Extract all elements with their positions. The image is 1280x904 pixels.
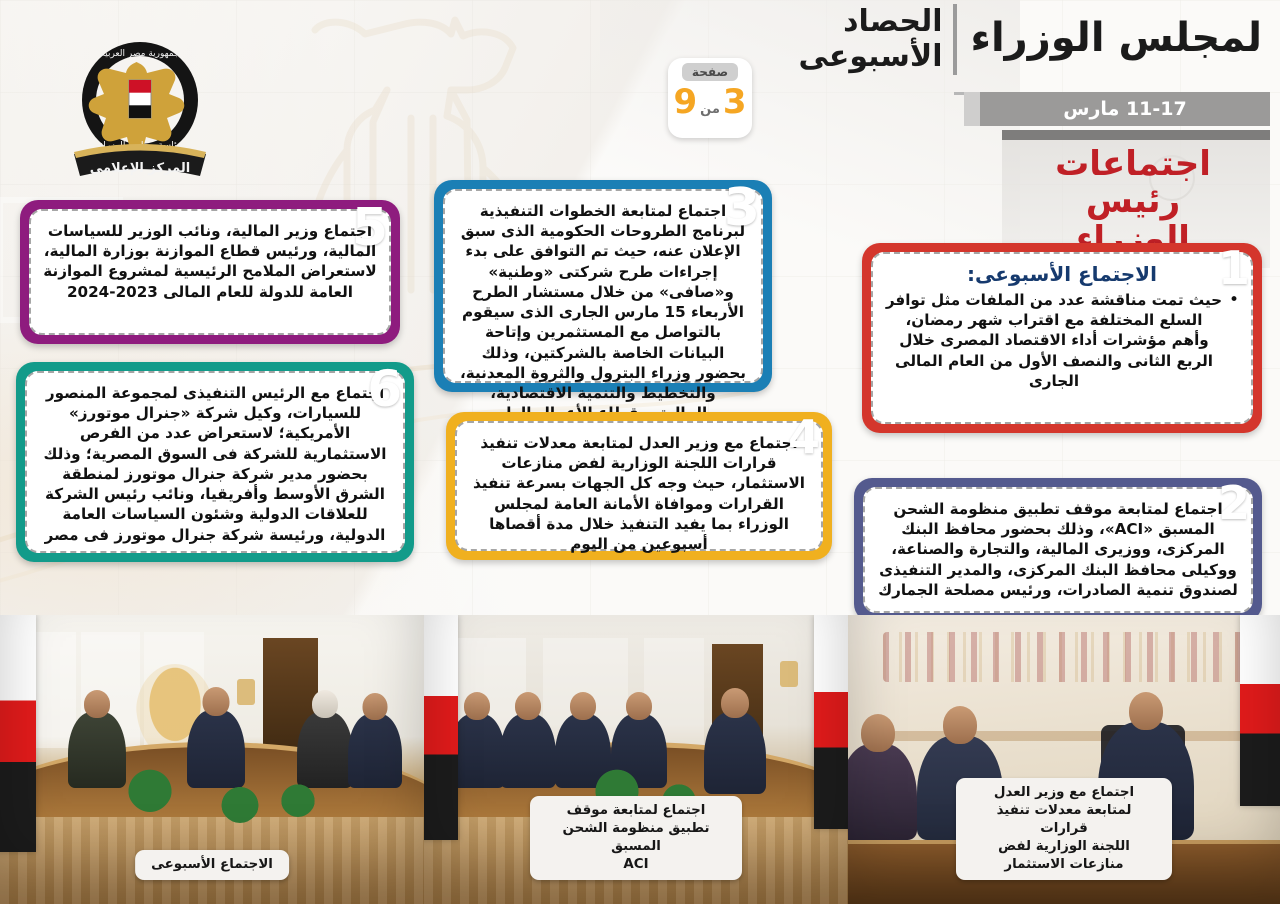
svg-text:المركز الإعلامي: المركز الإعلامي [90, 161, 190, 176]
card-1-number: 1 [1218, 245, 1250, 291]
page-subtitle: الحصاد الأسبوعى [798, 4, 956, 75]
photo-2-caption: اجتماع لمتابعة موقف تطبيق منظومة الشحن ا… [530, 796, 742, 880]
page-badge-current: 3 [723, 82, 747, 122]
card-2-number: 2 [1218, 480, 1250, 526]
photo-3-caption: الاجتماع الأسبوعى [135, 850, 289, 880]
card-6-inner: اجتماع مع الرئيس التنفيذى لمجموعة المنصو… [25, 371, 405, 553]
page-subtitle-line1: الحصاد [798, 4, 942, 39]
photo-1-caption: اجتماع مع وزير العدل لمتابعة معدلات تنفي… [956, 778, 1172, 880]
card-4-text: اجتماع مع وزير العدل لمتابعة معدلات تنفي… [469, 433, 809, 554]
infographic-page: جمهورية مصر العربية رئاسة مجلس الوزراء ا… [0, 0, 1280, 904]
card-3-number: 3 [724, 182, 760, 234]
card-1-heading: الاجتماع الأسبوعى: [885, 262, 1239, 286]
cabinet-media-center-logo: جمهورية مصر العربية رئاسة مجلس الوزراء ا… [58, 34, 222, 186]
page-badge-of: من [700, 102, 720, 117]
card-5-inner: اجتماع وزير المالية، ونائب الوزير للسياس… [29, 209, 391, 335]
card-1-inner: الاجتماع الأسبوعى: • حيث تمت مناقشة عدد … [871, 252, 1253, 424]
section-title-tab [1002, 130, 1270, 140]
card-4-inner: اجتماع مع وزير العدل لمتابعة معدلات تنفي… [455, 421, 823, 551]
card-1-text: حيث تمت مناقشة عدد من الملفات مثل توافر … [885, 290, 1223, 391]
card-6-number: 6 [367, 364, 402, 414]
card-6-text: اجتماع مع الرئيس التنفيذى لمجموعة المنصو… [39, 383, 391, 545]
card-1-bullet-row: • حيث تمت مناقشة عدد من الملفات مثل تواف… [885, 290, 1239, 391]
card-5: 5 اجتماع وزير المالية، ونائب الوزير للسي… [20, 200, 400, 344]
card-5-text: اجتماع وزير المالية، ونائب الوزير للسياس… [43, 221, 377, 302]
card-3-inner: اجتماع لمتابعة الخطوات التنفيذية لبرنامج… [443, 189, 763, 383]
card-2-text: اجتماع لمتابعة موقف تطبيق منظومة الشحن ا… [877, 499, 1239, 600]
page-badge-total: 9 [673, 82, 697, 122]
card-2: 2 اجتماع لمتابعة موقف تطبيق منظومة الشحن… [854, 478, 1262, 622]
photo-aci-meeting: اجتماع لمتابعة موقف تطبيق منظومة الشحن ا… [424, 615, 848, 904]
page-subtitle-line2: الأسبوعى [798, 39, 942, 74]
card-4: 4 اجتماع مع وزير العدل لمتابعة معدلات تن… [446, 412, 832, 560]
card-3: 3 اجتماع لمتابعة الخطوات التنفيذية لبرنا… [434, 180, 772, 392]
page-title: لمجلس الوزراء [971, 4, 1262, 61]
card-6: 6 اجتماع مع الرئيس التنفيذى لمجموعة المن… [16, 362, 414, 562]
card-4-number: 4 [788, 414, 820, 460]
page-badge-caption: صفحة [682, 63, 738, 81]
card-5-number: 5 [352, 202, 388, 254]
card-2-inner: اجتماع لمتابعة موقف تطبيق منظومة الشحن ا… [863, 487, 1253, 613]
date-range-label: 11-17 مارس [1063, 98, 1186, 120]
card-1: 1 الاجتماع الأسبوعى: • حيث تمت مناقشة عد… [862, 243, 1262, 433]
title-block: لمجلس الوزراء الحصاد الأسبوعى [798, 4, 1262, 75]
date-range-bar: 11-17 مارس [980, 92, 1270, 126]
photo-strip: اجتماع مع وزير العدل لمتابعة معدلات تنفي… [0, 615, 1280, 904]
section-title-line1: اجتماعات رئيس [1012, 146, 1254, 221]
page-badge-numbers: 3 من 9 [673, 82, 746, 122]
svg-text:جمهورية مصر العربية: جمهورية مصر العربية [100, 49, 179, 59]
page-number-badge: صفحة 3 من 9 [668, 58, 752, 138]
photo-weekly-meeting: الاجتماع الأسبوعى [0, 615, 424, 904]
photo-justice-meeting: اجتماع مع وزير العدل لمتابعة معدلات تنفي… [848, 615, 1280, 904]
